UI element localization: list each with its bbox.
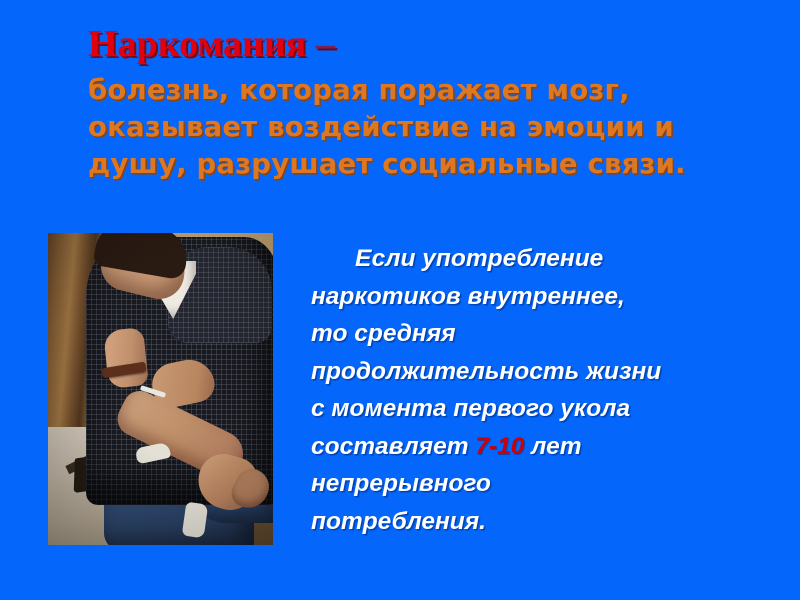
- slide-subtitle: болезнь, которая поражает мозг, оказывае…: [88, 72, 788, 183]
- body-line-8: потребления.: [311, 503, 789, 541]
- subtitle-line-1: болезнь, которая поражает мозг,: [88, 72, 788, 109]
- body-line-6-before: составляет: [311, 433, 475, 460]
- photo-upper-arm: [103, 327, 149, 389]
- body-line-6-after: лет: [524, 433, 581, 460]
- life-expectancy-years: 7-10: [475, 433, 524, 460]
- body-line-2: наркотиков внутреннее,: [311, 278, 789, 316]
- photo-drug-injection: [48, 233, 273, 545]
- heading-block: Наркомания – болезнь, которая поражает м…: [88, 22, 788, 183]
- title-dash: –: [306, 23, 335, 65]
- body-text: Если употребление наркотиков внутреннее,…: [311, 240, 789, 540]
- body-line-4: продолжительность жизни: [311, 353, 789, 391]
- page-title: Наркомания –: [88, 22, 788, 66]
- body-line-1: Если употребление: [311, 240, 789, 278]
- body-line-5: с момента первого укола: [311, 390, 789, 428]
- slide: Наркомания – болезнь, которая поражает м…: [0, 0, 800, 600]
- subtitle-line-2: оказывает воздействие на эмоции и: [88, 109, 788, 146]
- body-line-3: то средняя: [311, 315, 789, 353]
- body-line-7: непрерывного: [311, 465, 789, 503]
- subtitle-line-3: душу, разрушает социальные связи.: [88, 146, 788, 183]
- body-line-6: составляет 7-10 лет: [311, 428, 789, 466]
- page-title-text: Наркомания: [88, 23, 306, 65]
